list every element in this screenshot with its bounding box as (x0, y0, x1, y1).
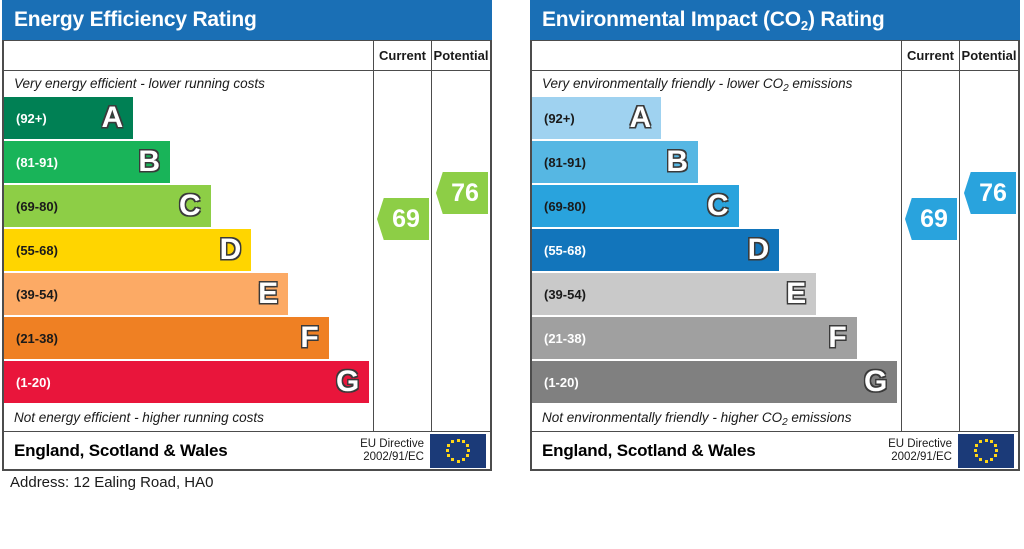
environmental-chart-body: Current Potential Very environmentally f… (530, 40, 1020, 471)
energy-current-column-header: Current (374, 41, 432, 70)
environmental-band-range-f: (21-38) (532, 331, 586, 346)
environmental-current-rating-marker: 69 (905, 198, 957, 240)
eu-star (994, 454, 997, 457)
energy-band-range-b: (81-91) (4, 155, 58, 170)
band-row-c: (69-80)C (532, 185, 901, 227)
eu-star (462, 440, 465, 443)
environmental-band-letter-d: D (748, 235, 770, 265)
environmental-bands-column: Very environmentally friendly - lower CO… (532, 71, 902, 431)
energy-band-range-a: (92+) (4, 111, 47, 126)
environmental-directive-line-1: EU Directive (888, 438, 952, 451)
energy-band-letter-f: F (300, 323, 318, 353)
eu-star (974, 449, 977, 452)
environmental-band-range-e: (39-54) (532, 287, 586, 302)
eu-star (975, 444, 978, 447)
energy-band-letter-d: D (220, 235, 242, 265)
energy-chart-body: Current Potential Very energy efficient … (2, 40, 492, 471)
eu-star (451, 458, 454, 461)
band-row-f: (21-38)F (4, 317, 373, 359)
eu-flag-icon (958, 434, 1014, 468)
eu-star (979, 458, 982, 461)
eu-star (979, 440, 982, 443)
energy-potential-column-header: Potential (432, 41, 490, 70)
energy-directive-line-1: EU Directive (360, 438, 424, 451)
energy-potential-meter-column: 76 (432, 71, 490, 431)
environmental-band-range-d: (55-68) (532, 243, 586, 258)
environmental-band-range-g: (1-20) (532, 375, 579, 390)
band-row-e: (39-54)E (4, 273, 373, 315)
band-row-e: (39-54)E (532, 273, 901, 315)
energy-band-letter-b: B (138, 147, 160, 177)
property-address: Address: 12 Ealing Road, HA0 (10, 474, 213, 491)
environmental-column-headers: Current Potential (532, 41, 1018, 71)
energy-band-fill-g (4, 361, 369, 403)
band-row-c: (69-80)C (4, 185, 373, 227)
energy-band-range-g: (1-20) (4, 375, 51, 390)
eu-star (466, 444, 469, 447)
environmental-impact-rating-chart: Environmental Impact (CO2) Rating Curren… (530, 0, 1020, 471)
eu-star (462, 458, 465, 461)
environmental-band-range-b: (81-91) (532, 155, 586, 170)
energy-top-caption: Very energy efficient - lower running co… (4, 71, 373, 97)
eu-star (995, 449, 998, 452)
environmental-potential-meter-column: 76 (960, 71, 1018, 431)
environmental-band-letter-f: F (828, 323, 846, 353)
environmental-top-caption: Very environmentally friendly - lower CO… (532, 71, 901, 97)
energy-band-letter-g: G (336, 367, 359, 397)
environmental-potential-rating-marker: 76 (964, 172, 1016, 214)
energy-band-letter-c: C (179, 191, 201, 221)
environmental-directive-line-2: 2002/91/EC (888, 451, 952, 464)
energy-chart-title: Energy Efficiency Rating (2, 0, 492, 40)
band-row-g: (1-20)G (532, 361, 901, 403)
environmental-current-meter-column: 69 (902, 71, 960, 431)
energy-chart-footer: England, Scotland & Wales EU Directive 2… (4, 431, 490, 469)
eu-flag-icon (430, 434, 486, 468)
eu-star (451, 440, 454, 443)
energy-band-range-c: (69-80) (4, 199, 58, 214)
band-row-a: (92+)A (4, 97, 373, 139)
environmental-band-letter-a: A (629, 103, 651, 133)
environmental-band-letter-g: G (864, 367, 887, 397)
eu-star (990, 440, 993, 443)
band-row-g: (1-20)G (4, 361, 373, 403)
environmental-current-column-header: Current (902, 41, 960, 70)
energy-band-letter-a: A (101, 103, 123, 133)
eu-star (447, 454, 450, 457)
energy-band-range-f: (21-38) (4, 331, 58, 346)
band-row-d: (55-68)D (4, 229, 373, 271)
band-row-b: (81-91)B (532, 141, 901, 183)
environmental-band-range-a: (92+) (532, 111, 575, 126)
eu-star (447, 444, 450, 447)
energy-column-headers: Current Potential (4, 41, 490, 71)
band-row-b: (81-91)B (4, 141, 373, 183)
energy-bands-column: Very energy efficient - lower running co… (4, 71, 374, 431)
band-row-d: (55-68)D (532, 229, 901, 271)
environmental-band-range-c: (69-80) (532, 199, 586, 214)
environmental-bottom-caption: Not environmentally friendly - higher CO… (532, 405, 901, 431)
eu-star (994, 444, 997, 447)
band-row-a: (92+)A (532, 97, 901, 139)
eu-star (985, 460, 988, 463)
eu-star (990, 458, 993, 461)
energy-bottom-caption: Not energy efficient - higher running co… (4, 405, 373, 431)
eu-star (467, 449, 470, 452)
energy-current-rating-marker: 69 (377, 198, 429, 240)
energy-current-meter-column: 69 (374, 71, 432, 431)
environmental-band-letter-e: E (786, 279, 806, 309)
band-row-f: (21-38)F (532, 317, 901, 359)
energy-header-spacer (4, 41, 374, 70)
energy-potential-rating-marker: 76 (436, 172, 488, 214)
eu-star (457, 460, 460, 463)
environmental-chart-footer: England, Scotland & Wales EU Directive 2… (532, 431, 1018, 469)
energy-efficiency-rating-chart: Energy Efficiency Rating Current Potenti… (2, 0, 492, 471)
energy-directive-line-2: 2002/91/EC (360, 451, 424, 464)
environmental-footer-region: England, Scotland & Wales (532, 441, 888, 461)
energy-footer-region: England, Scotland & Wales (4, 441, 360, 461)
eu-star (466, 454, 469, 457)
energy-band-range-e: (39-54) (4, 287, 58, 302)
eu-star (457, 439, 460, 442)
eu-star (446, 449, 449, 452)
energy-chart-grid: Very energy efficient - lower running co… (4, 71, 490, 431)
environmental-chart-title: Environmental Impact (CO2) Rating (530, 0, 1020, 40)
epc-charts-row: Energy Efficiency Rating Current Potenti… (0, 0, 1024, 471)
environmental-band-list: (92+)A(81-91)B(69-80)C(55-68)D(39-54)E(2… (532, 97, 901, 403)
eu-star (975, 454, 978, 457)
environmental-header-spacer (532, 41, 902, 70)
energy-band-range-d: (55-68) (4, 243, 58, 258)
energy-footer-directive: EU Directive 2002/91/EC (360, 438, 430, 464)
environmental-footer-directive: EU Directive 2002/91/EC (888, 438, 958, 464)
energy-band-letter-e: E (258, 279, 278, 309)
environmental-band-fill-g (532, 361, 897, 403)
environmental-band-letter-c: C (707, 191, 729, 221)
environmental-chart-grid: Very environmentally friendly - lower CO… (532, 71, 1018, 431)
energy-band-list: (92+)A(81-91)B(69-80)C(55-68)D(39-54)E(2… (4, 97, 373, 403)
environmental-potential-column-header: Potential (960, 41, 1018, 70)
environmental-band-letter-b: B (666, 147, 688, 177)
eu-star (985, 439, 988, 442)
